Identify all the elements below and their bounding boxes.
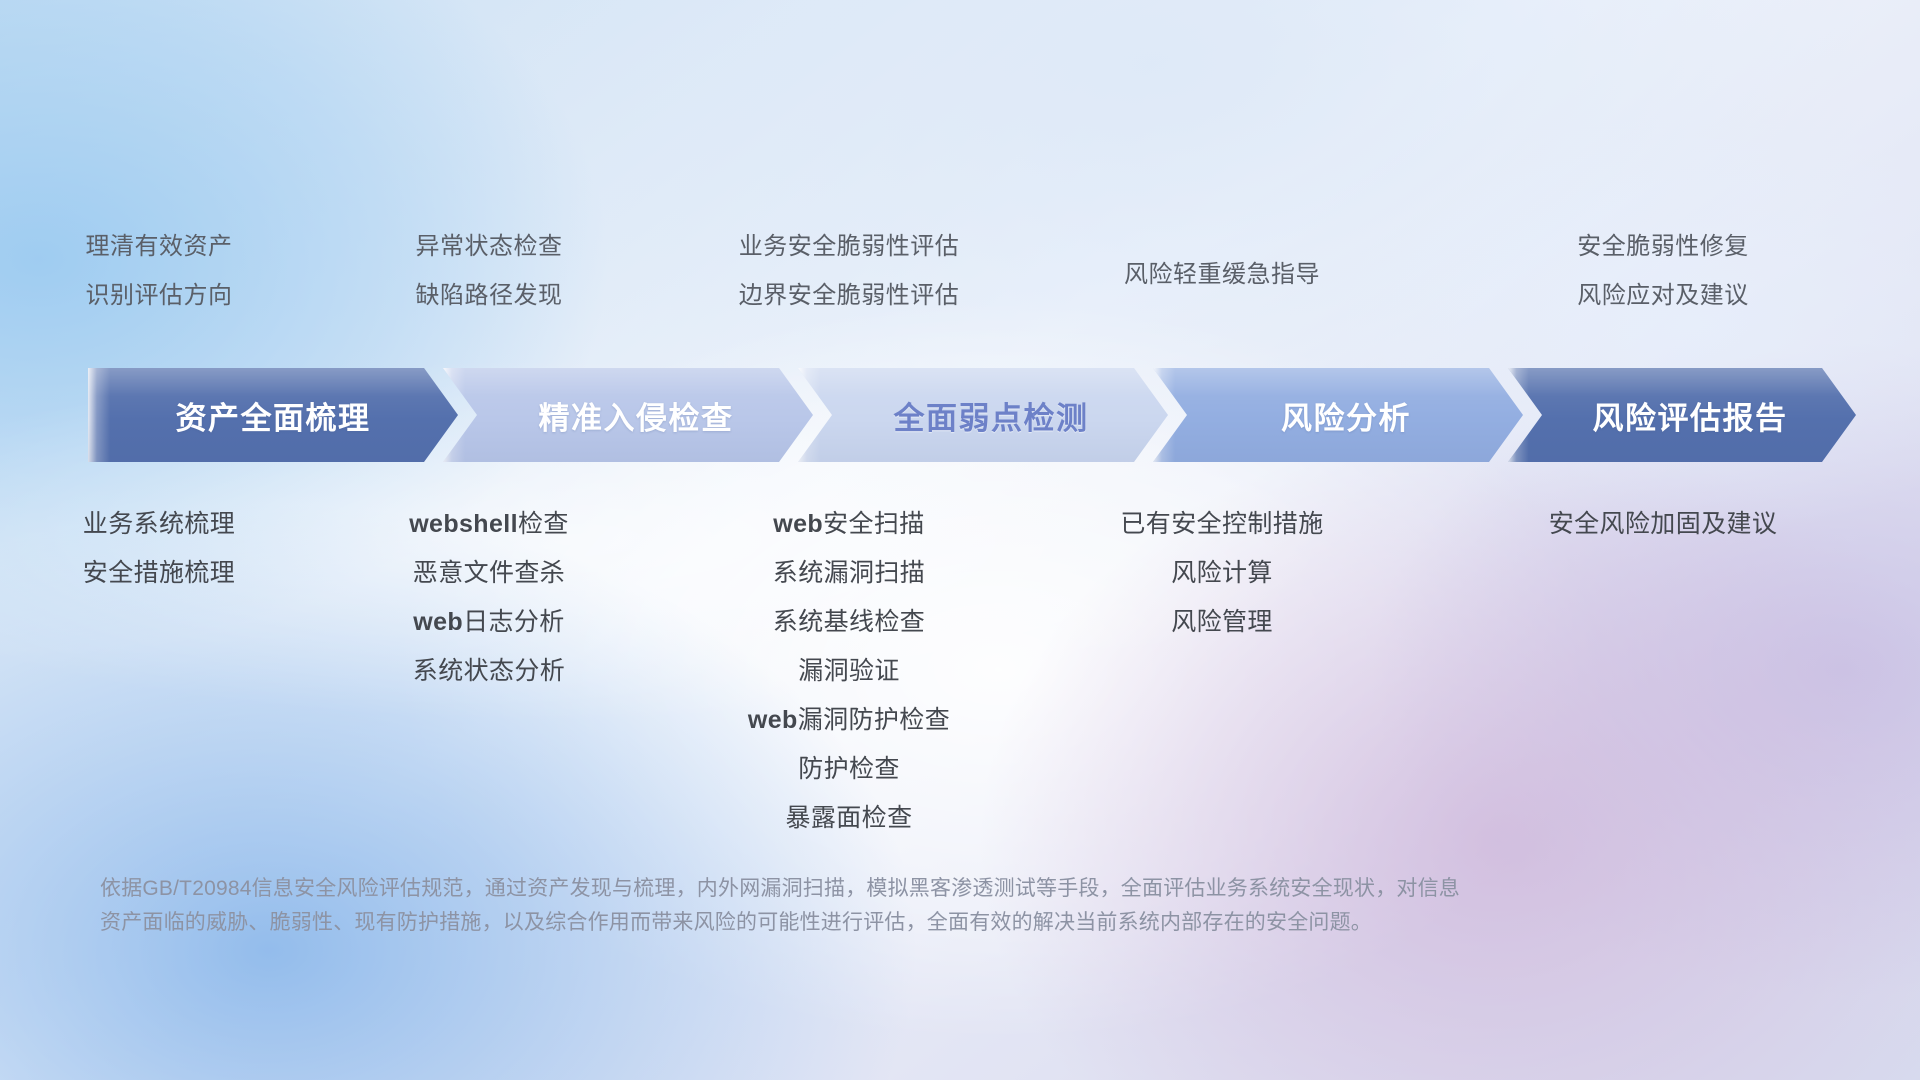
footer-description: 依据GB/T20984信息安全风险评估规范，通过资产发现与梳理，内外网漏洞扫描，… — [100, 872, 1660, 940]
top-note-line: 业务安全脆弱性评估 — [739, 222, 960, 271]
detail-item-prefix: web — [748, 706, 798, 734]
detail-item-text: 日志分析 — [463, 608, 565, 636]
process-stage-label: 风险评估报告 — [1593, 393, 1788, 438]
top-note-line: 风险应对及建议 — [1577, 271, 1749, 320]
top-note-column: 异常状态检查缺陷路径发现 — [318, 222, 660, 332]
top-note-line: 安全脆弱性修复 — [1577, 222, 1749, 271]
process-stage-1[interactable]: 资产全面梳理 — [88, 368, 458, 462]
top-note-line: 异常状态检查 — [416, 222, 563, 271]
process-stage-2[interactable]: 精准入侵检查 — [443, 368, 813, 462]
top-note-line: 缺陷路径发现 — [416, 271, 563, 320]
detail-list-item: 风险管理 — [1171, 598, 1273, 647]
top-note-column: 理清有效资产识别评估方向 — [0, 222, 318, 332]
detail-list-item: 风险计算 — [1171, 549, 1273, 598]
top-note-column: 风险轻重缓急指导 — [1038, 222, 1406, 332]
detail-item-text: 漏洞防护检查 — [798, 706, 950, 734]
detail-list-column: 已有安全控制措施风险计算风险管理 — [1038, 500, 1406, 860]
process-stage-3[interactable]: 全面弱点检测 — [798, 368, 1168, 462]
detail-list-item: 暴露面检查 — [785, 794, 912, 843]
process-stage-label: 精准入侵检查 — [539, 393, 734, 438]
detail-list-item: 安全风险加固及建议 — [1549, 500, 1778, 549]
detail-list-item: 系统状态分析 — [413, 647, 565, 696]
bottom-detail-lists: 业务系统梳理安全措施梳理webshell检查恶意文件查杀web日志分析系统状态分… — [0, 500, 1920, 860]
detail-list-column: web安全扫描系统漏洞扫描系统基线检查漏洞验证web漏洞防护检查防护检查暴露面检… — [660, 500, 1038, 860]
detail-list-item: 系统基线检查 — [773, 598, 925, 647]
detail-list-column: webshell检查恶意文件查杀web日志分析系统状态分析 — [318, 500, 660, 860]
process-stage-5[interactable]: 风险评估报告 — [1508, 368, 1856, 462]
detail-list-item: 安全措施梳理 — [83, 549, 235, 598]
detail-list-item: 防护检查 — [798, 745, 900, 794]
top-note-line: 识别评估方向 — [86, 271, 233, 320]
detail-list-item: 已有安全控制措施 — [1120, 500, 1323, 549]
top-note-column: 安全脆弱性修复风险应对及建议 — [1406, 222, 1920, 332]
detail-list-item: web日志分析 — [413, 598, 564, 647]
detail-list-item: 业务系统梳理 — [83, 500, 235, 549]
process-stage-label: 风险分析 — [1281, 393, 1411, 438]
detail-item-prefix: web — [413, 608, 463, 636]
process-stage-label: 全面弱点检测 — [894, 393, 1089, 438]
detail-list-item: 系统漏洞扫描 — [773, 549, 925, 598]
infographic-stage: 理清有效资产识别评估方向异常状态检查缺陷路径发现业务安全脆弱性评估边界安全脆弱性… — [0, 0, 1920, 1080]
detail-item-text: 安全扫描 — [823, 510, 925, 538]
detail-list-item: web漏洞防护检查 — [748, 696, 950, 745]
detail-list-item: 恶意文件查杀 — [413, 549, 565, 598]
process-chevron-band: 资产全面梳理精准入侵检查全面弱点检测风险分析风险评估报告 — [88, 368, 1856, 462]
footer-line-2: 资产面临的威胁、脆弱性、现有防护措施，以及综合作用而带来风险的可能性进行评估，全… — [100, 906, 1660, 940]
detail-list-column: 业务系统梳理安全措施梳理 — [0, 500, 318, 860]
detail-list-column: 安全风险加固及建议 — [1406, 500, 1920, 860]
detail-item-prefix: web — [773, 510, 823, 538]
top-note-line: 风险轻重缓急指导 — [1124, 250, 1320, 299]
top-note-column: 业务安全脆弱性评估边界安全脆弱性评估 — [660, 222, 1038, 332]
top-note-line: 边界安全脆弱性评估 — [739, 271, 960, 320]
top-note-line: 理清有效资产 — [86, 222, 233, 271]
detail-list-item: web安全扫描 — [773, 500, 924, 549]
footer-line-1: 依据GB/T20984信息安全风险评估规范，通过资产发现与梳理，内外网漏洞扫描，… — [100, 872, 1660, 906]
detail-item-prefix: webshell — [409, 510, 518, 538]
detail-list-item: webshell检查 — [409, 500, 569, 549]
detail-list-item: 漏洞验证 — [798, 647, 900, 696]
process-stage-4[interactable]: 风险分析 — [1153, 368, 1523, 462]
detail-item-text: 检查 — [518, 510, 569, 538]
top-notes-row: 理清有效资产识别评估方向异常状态检查缺陷路径发现业务安全脆弱性评估边界安全脆弱性… — [0, 222, 1920, 332]
process-stage-label: 资产全面梳理 — [176, 393, 371, 438]
